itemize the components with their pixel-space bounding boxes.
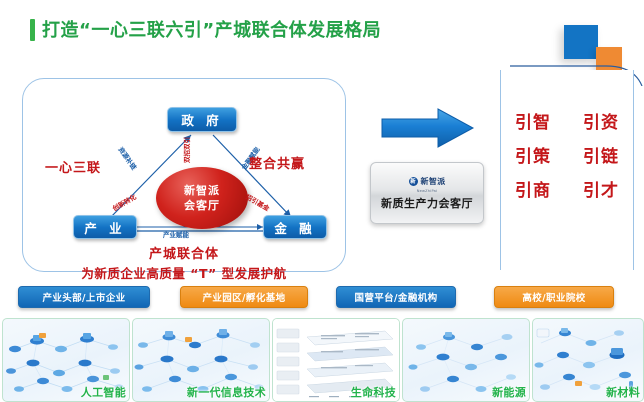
- logo-caption: 新质生产力会客厅: [381, 195, 473, 211]
- middle-column: 新 新智派 NewZhiPai 新质生产力会客厅: [358, 96, 494, 276]
- thumbnail-label-ai: 人工智能: [81, 384, 126, 400]
- thumbnail-newenergy[interactable]: 新能源: [402, 318, 530, 402]
- yin-keywords-card: 引智 引资 引策 引链 引商 引才: [500, 70, 634, 270]
- logo-english-name: NewZhiPai: [417, 189, 438, 193]
- pill-state-platforms[interactable]: 国营平台/金融机构: [336, 286, 456, 308]
- slide-header: 打造“一心三联六引”产城联合体发展格局: [0, 0, 644, 56]
- diagram-side-label-right: 整合共赢: [249, 153, 305, 172]
- thumbnail-label-newmaterials: 新材料: [606, 384, 640, 400]
- thumbnail-row: 人工智能: [0, 318, 644, 400]
- category-pill-row: 产业头部/上市企业 产业园区/孵化基地 国营平台/金融机构 高校/职业院校: [0, 286, 644, 310]
- diagram-node-finance: 金 融: [263, 215, 327, 239]
- thumbnail-infotech[interactable]: 新一代信息技术: [132, 318, 270, 402]
- diagram-side-label-left: 一心三联: [45, 157, 101, 176]
- yin-item-5: 引才: [583, 176, 619, 201]
- decorative-blue-square: [564, 25, 598, 59]
- thumbnail-label-infotech: 新一代信息技术: [187, 384, 266, 400]
- yin-item-1: 引资: [583, 108, 619, 133]
- diagram-footer-line2: 为新质企业高质量 “T” 型发展护航: [18, 263, 350, 282]
- diagram-node-government: 政 府: [167, 107, 237, 132]
- thumbnail-ai[interactable]: 人工智能: [2, 318, 130, 402]
- thumbnail-label-newenergy: 新能源: [492, 384, 526, 400]
- page-title: 打造“一心三联六引”产城联合体发展格局: [42, 16, 381, 42]
- main-content-band: 政 府 产 业 金 融 新智派 会客厅 双招双引 资源补链 金融赋能 创新转化 …: [0, 56, 644, 280]
- yin-keywords-grid: 引智 引资 引策 引链 引商 引才: [501, 108, 633, 201]
- logo-row: 新 新智派: [409, 176, 446, 187]
- edge-label-bottom: 产业赋能: [163, 229, 189, 239]
- pill-industrial-parks[interactable]: 产业园区/孵化基地: [180, 286, 308, 308]
- title-accent-bar: [30, 19, 35, 41]
- brand-logo-card: 新 新智派 NewZhiPai 新质生产力会客厅: [370, 162, 484, 224]
- thumbnail-lifetech[interactable]: 生命科技: [272, 318, 400, 402]
- diagram-footer-line1: 产城联合体: [23, 243, 345, 262]
- logo-mark-icon: 新: [409, 177, 418, 186]
- center-label-line2: 会客厅: [184, 198, 220, 213]
- pill-universities[interactable]: 高校/职业院校: [494, 286, 614, 308]
- center-label-line1: 新智派: [184, 183, 220, 198]
- slide-root: 打造“一心三联六引”产城联合体发展格局: [0, 0, 644, 400]
- edge-label-top: 双招双引: [181, 137, 191, 163]
- logo-chinese-name: 新智派: [421, 176, 446, 187]
- diagram-node-industry: 产 业: [73, 215, 137, 239]
- yin-item-3: 引链: [583, 142, 619, 167]
- pill-industry-leaders[interactable]: 产业头部/上市企业: [18, 286, 150, 308]
- diagram-center-node: 新智派 会客厅: [156, 167, 248, 229]
- yin-item-4: 引商: [515, 176, 551, 201]
- thumbnail-newmaterials[interactable]: 新材料: [532, 318, 644, 402]
- yin-item-2: 引策: [515, 142, 551, 167]
- right-arrow-icon: [380, 106, 476, 150]
- yin-item-0: 引智: [515, 108, 551, 133]
- triangle-diagram-card: 政 府 产 业 金 融 新智派 会客厅 双招双引 资源补链 金融赋能 创新转化 …: [22, 78, 346, 272]
- thumbnail-label-lifetech: 生命科技: [351, 384, 396, 400]
